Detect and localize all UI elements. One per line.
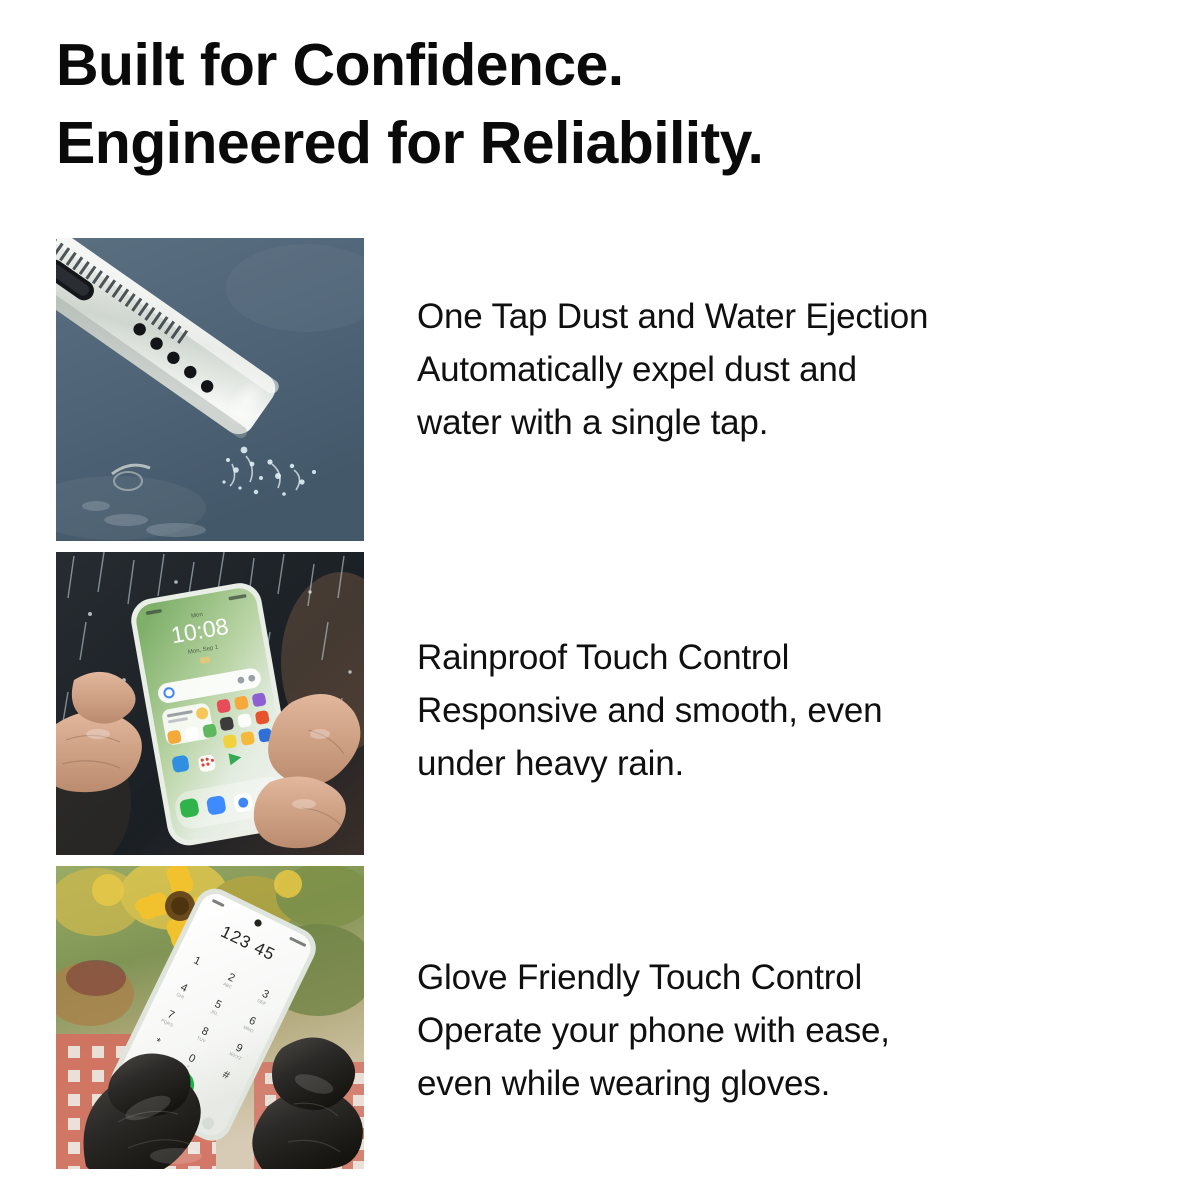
feature-list: One Tap Dust and Water Ejection Automati… bbox=[0, 238, 1200, 1180]
feature-copy-glove-friendly-touch-control: Glove Friendly Touch Control Operate you… bbox=[417, 866, 1117, 1169]
feature-description: Operate your phone with ease, even while… bbox=[417, 1004, 1117, 1110]
feature-description: Automatically expel dust and water with … bbox=[417, 343, 1117, 449]
feature-title: One Tap Dust and Water Ejection bbox=[417, 290, 1117, 343]
feature-copy-rainproof-touch-control: Rainproof Touch Control Responsive and s… bbox=[417, 552, 1117, 855]
feature-image-rainproof-touch-control[interactable]: Mon 10:08 Mon, Sep 1 bbox=[56, 552, 364, 855]
feature-row-rainproof-touch-control: Mon 10:08 Mon, Sep 1 bbox=[0, 552, 1200, 855]
feature-description: Responsive and smooth, even under heavy … bbox=[417, 684, 1117, 790]
promo-page: Built for Confidence. Engineered for Rel… bbox=[0, 0, 1200, 1200]
feature-title: Rainproof Touch Control bbox=[417, 631, 1117, 684]
feature-row-dust-water-ejection: One Tap Dust and Water Ejection Automati… bbox=[0, 238, 1200, 541]
feature-row-glove-friendly-touch-control: 123 45 123 456 789 *0# ABCDEF GHIJKLMNO … bbox=[0, 866, 1200, 1169]
feature-copy-dust-water-ejection: One Tap Dust and Water Ejection Automati… bbox=[417, 238, 1117, 541]
page-title: Built for Confidence. Engineered for Rel… bbox=[56, 26, 1136, 183]
feature-image-dust-water-ejection[interactable] bbox=[56, 238, 364, 541]
feature-image-glove-friendly-touch-control[interactable]: 123 45 123 456 789 *0# ABCDEF GHIJKLMNO … bbox=[56, 866, 364, 1169]
feature-title: Glove Friendly Touch Control bbox=[417, 951, 1117, 1004]
